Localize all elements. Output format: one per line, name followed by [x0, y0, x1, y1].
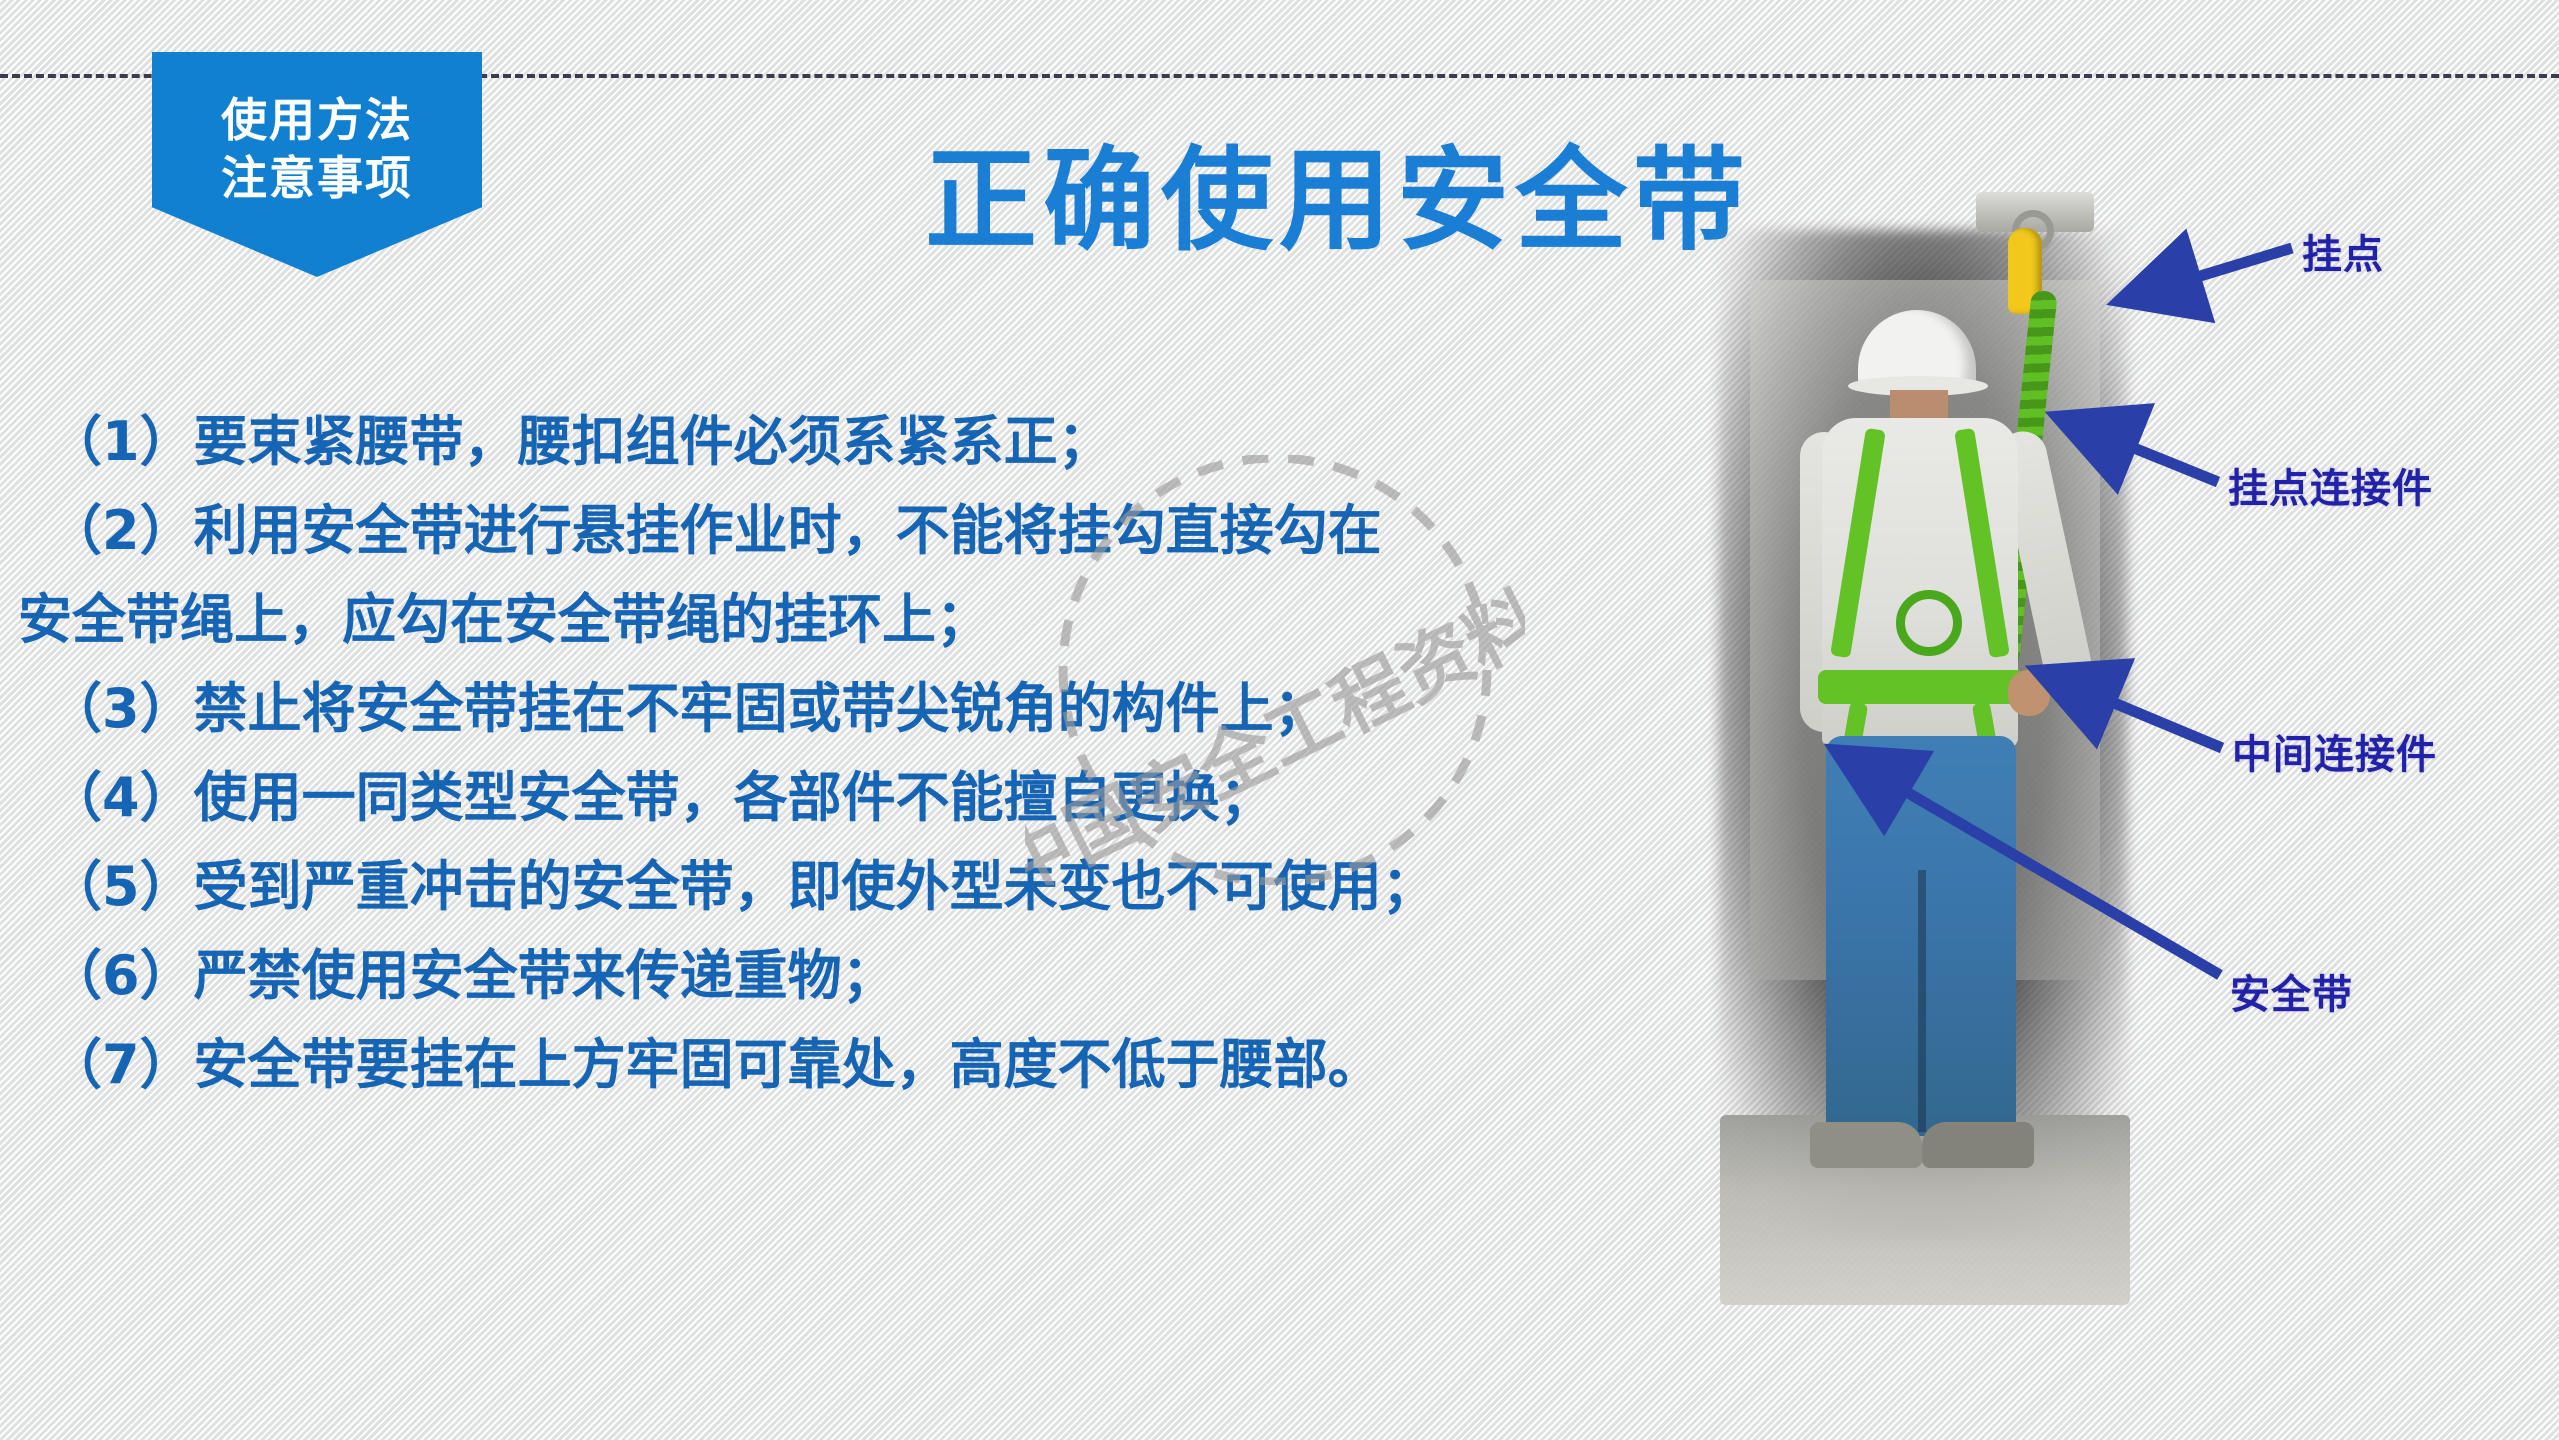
section-badge-line-1: 使用方法 [152, 92, 482, 150]
list-item: 安全带绳上，应勾在安全带绳的挂环上； [18, 593, 1688, 647]
callout-label-safety-belt: 安全带 [2230, 962, 2353, 1020]
list-item: （6）严禁使用安全带来传递重物； [48, 949, 1688, 1003]
worker-shoe-left [1810, 1122, 1922, 1168]
page-title: 正确使用安全带 [925, 140, 1751, 263]
section-badge: 使用方法 注意事项 [152, 52, 482, 277]
list-item: （3）禁止将安全带挂在不牢固或带尖锐角的构件上； [48, 682, 1688, 736]
list-item: （1）要束紧腰带，腰扣组件必须系紧系正； [48, 415, 1688, 469]
list-item: （4）使用一同类型安全带，各部件不能擅自更换； [48, 771, 1688, 825]
section-badge-line-2: 注意事项 [152, 150, 482, 208]
callout-label-anchor-point: 挂点 [2302, 222, 2384, 280]
list-item: （5）受到严重冲击的安全带，即使外型未变也不可使用； [48, 860, 1688, 914]
list-item: （7）安全带要挂在上方牢固可靠处，高度不低于腰部。 [48, 1038, 1688, 1092]
harness-dorsal-d-ring [1896, 590, 1962, 656]
worker-leg-gap [1918, 870, 1926, 1132]
callout-label-anchor-connector: 挂点连接件 [2228, 456, 2433, 514]
worker-hand [2008, 670, 2050, 716]
harness-photo [1690, 170, 2160, 1325]
instruction-list: （1）要束紧腰带，腰扣组件必须系紧系正； （2）利用安全带进行悬挂作业时，不能将… [48, 415, 1688, 1127]
harness-waist-belt [1818, 670, 2024, 704]
worker-shoe-right [1922, 1122, 2034, 1168]
slide-canvas: 使用方法 注意事项 正确使用安全带 （1）要束紧腰带，腰扣组件必须系紧系正； （… [0, 0, 2559, 1440]
callout-label-middle-connector: 中间连接件 [2232, 722, 2437, 780]
list-item: （2）利用安全带进行悬挂作业时，不能将挂勾直接勾在 [48, 504, 1688, 558]
